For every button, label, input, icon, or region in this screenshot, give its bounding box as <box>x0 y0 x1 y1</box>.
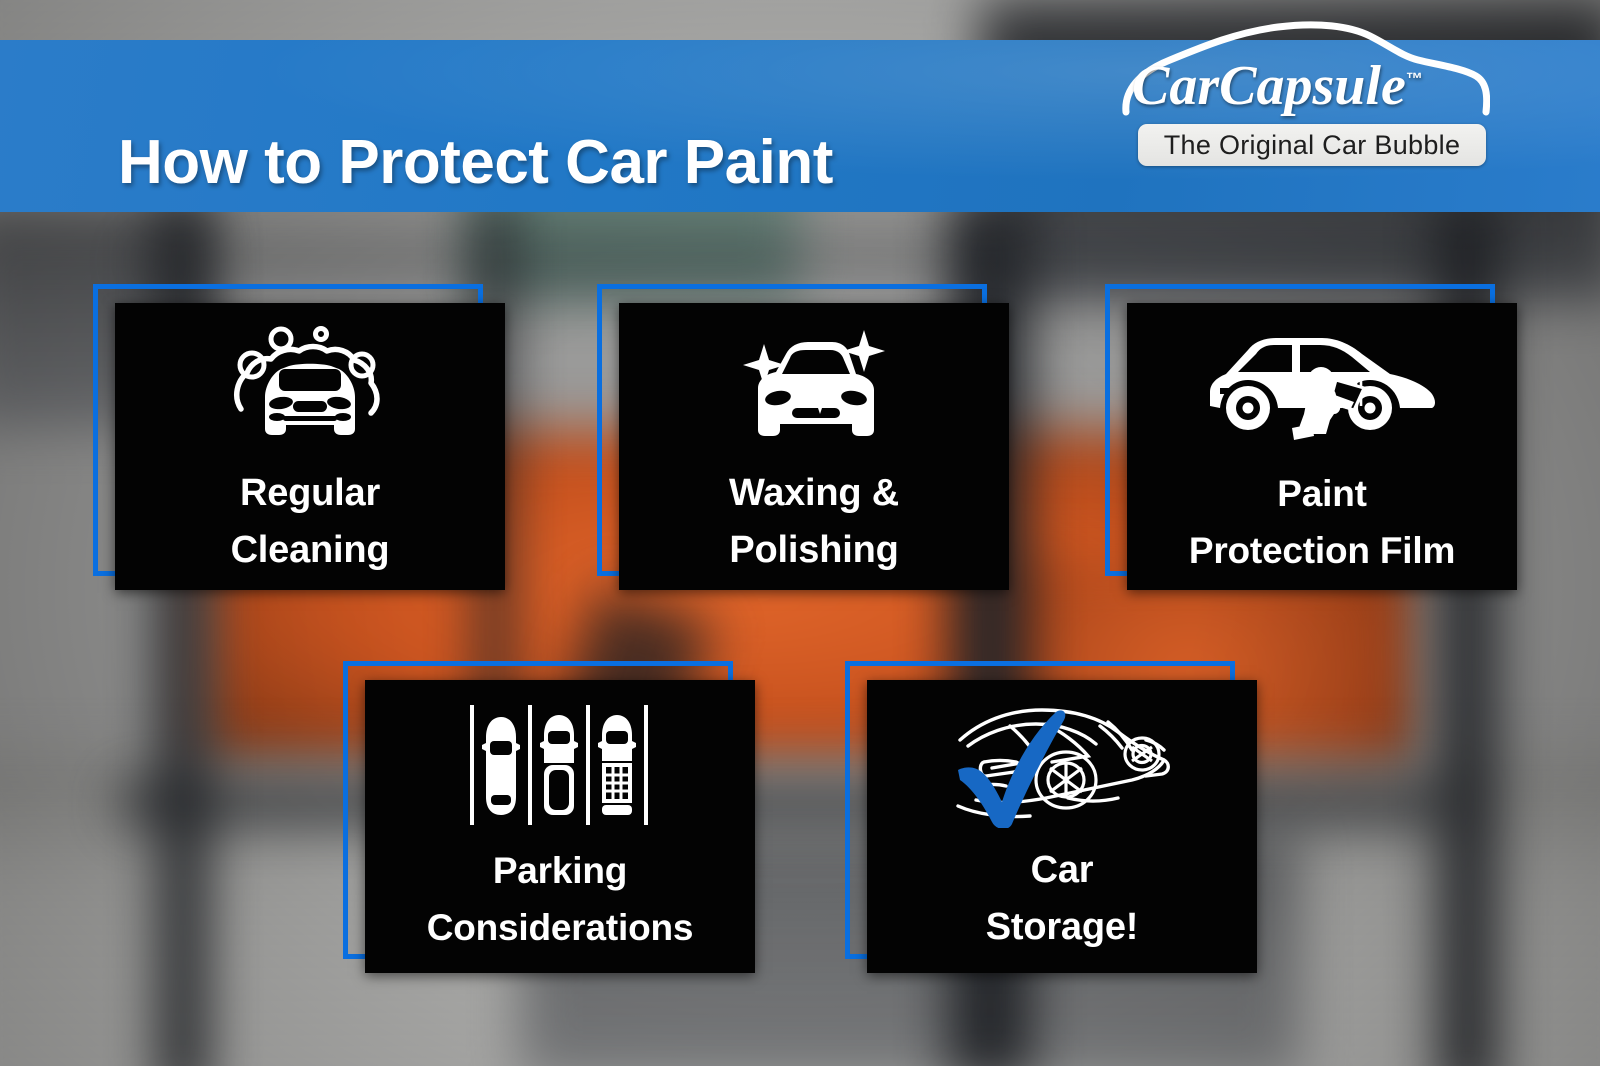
card-label: Parking Considerations <box>365 842 755 956</box>
film-application-icon <box>1204 328 1440 448</box>
logo-tagline: The Original Car Bubble <box>1164 130 1461 161</box>
card-panel[interactable]: Paint Protection Film <box>1127 303 1517 590</box>
card-icon <box>464 698 656 832</box>
card-icon <box>950 698 1174 832</box>
sparkling-car-icon <box>728 324 900 452</box>
checkmark-sports-car-icon <box>950 702 1174 828</box>
card-icon <box>221 321 399 455</box>
logo-trademark: ™ <box>1406 69 1423 88</box>
car-wash-foam-icon <box>221 323 399 453</box>
logo-wordmark-text: CarCapsule <box>1132 55 1406 117</box>
infographic-canvas: How to Protect Car Paint CarCapsule™ The… <box>0 0 1600 1066</box>
card-label: Regular Cleaning <box>115 465 505 579</box>
page-title: How to Protect Car Paint <box>118 132 833 194</box>
logo-wordmark: CarCapsule™ <box>1132 58 1490 114</box>
card-panel[interactable]: Waxing & Polishing <box>619 303 1009 590</box>
card-label: Paint Protection Film <box>1127 465 1517 579</box>
card-panel[interactable]: Regular Cleaning <box>115 303 505 590</box>
card-icon <box>1204 321 1440 455</box>
card-icon <box>728 321 900 455</box>
card-label: Car Storage! <box>867 842 1257 956</box>
carcapsule-logo: CarCapsule™ The Original Car Bubble <box>1118 16 1490 164</box>
card-label: Waxing & Polishing <box>619 465 1009 579</box>
logo-tagline-box: The Original Car Bubble <box>1138 124 1486 166</box>
card-panel[interactable]: Car Storage! <box>867 680 1257 973</box>
parking-lot-three-cars-icon <box>464 701 656 829</box>
card-panel[interactable]: Parking Considerations <box>365 680 755 973</box>
